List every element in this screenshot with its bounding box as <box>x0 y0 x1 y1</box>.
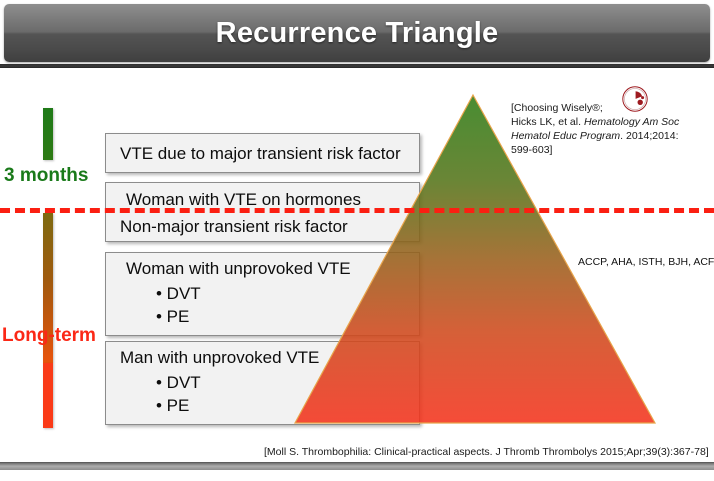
timeline-segment-green <box>43 108 53 160</box>
citation-moll-thrombophilia: [Moll S. Thrombophilia: Clinical-practic… <box>264 446 709 458</box>
citation-journal-2: Hematol Educ Program <box>511 130 620 142</box>
risk-box-heading: Woman with unprovoked VTE <box>126 258 351 279</box>
risk-box-heading: Man with unprovoked VTE <box>120 347 319 368</box>
page-title: Recurrence Triangle <box>4 4 710 62</box>
three-month-threshold-line <box>0 208 714 213</box>
title-divider <box>0 64 714 68</box>
risk-box-major-transient: VTE due to major transient risk factor <box>105 133 420 173</box>
risk-box-bullet: • DVT <box>156 283 201 304</box>
slide-footer-bar <box>0 462 714 470</box>
timeline-bar <box>43 108 53 428</box>
slide-title-bar: Recurrence Triangle <box>4 4 710 62</box>
citation-choosing-wisely: [Choosing Wisely®; Hicks LK, et al. Hema… <box>511 101 711 157</box>
risk-box-line: Woman with VTE on hormones <box>126 189 361 210</box>
risk-box-bullet: • DVT <box>156 372 201 393</box>
timeline-label-short: 3 months <box>4 165 88 187</box>
citation-line-4: 599-603] <box>511 144 552 156</box>
citation-line-1: [Choosing Wisely®; <box>511 102 603 114</box>
citation-line-2: Hicks LK, et al. <box>511 116 584 128</box>
risk-box-line: Non-major transient risk factor <box>120 216 348 237</box>
risk-box-line: VTE due to major transient risk factor <box>120 143 401 164</box>
risk-box-bullet: • PE <box>156 306 189 327</box>
guideline-organizations-label: ACCP, AHA, ISTH, BJH, ACF <box>578 256 714 268</box>
timeline-segment-red <box>43 363 53 428</box>
risk-box-man-unprovoked: Man with unprovoked VTE • DVT • PE <box>105 341 420 425</box>
citation-line-3: . 2014;2014: <box>620 130 678 142</box>
timeline-label-long: Long-term <box>2 325 96 347</box>
risk-box-bullet: • PE <box>156 395 189 416</box>
risk-box-woman-unprovoked: Woman with unprovoked VTE • DVT • PE <box>105 252 420 336</box>
citation-journal-1: Hematology Am Soc <box>584 116 679 128</box>
